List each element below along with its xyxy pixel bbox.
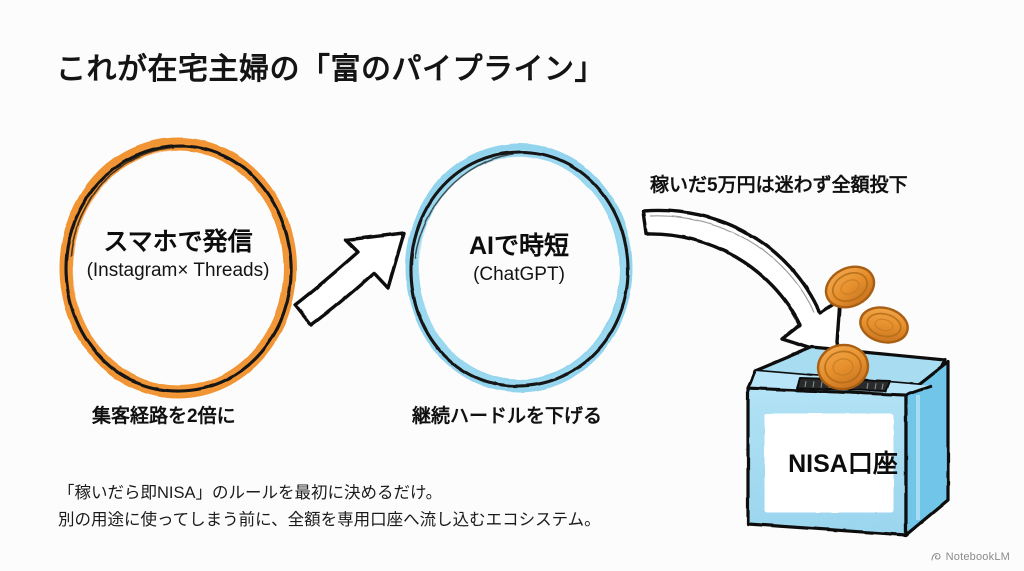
node-circle-ai [411, 150, 628, 386]
flow-label-investment: 稼いだ5万円は迷わず全額投下 [650, 170, 908, 197]
node-circle-smartphone [66, 144, 291, 392]
caption-smartphone: 集客経路を2倍に [92, 401, 236, 428]
watermark-text: NotebookLM [946, 551, 1010, 563]
arrow-smartphone-to-ai [295, 233, 404, 325]
notebooklm-icon [930, 551, 942, 563]
arrow-ai-to-nisa-box [643, 210, 840, 356]
slide-canvas: これが在宅主婦の「富のパイプライン」 [0, 0, 1024, 571]
watermark: NotebookLM [930, 551, 1010, 563]
footnote-line-2: 別の用途に使ってしまう前に、全額を専用口座へ流し込むエコシステム。 [58, 507, 601, 534]
caption-ai: 継続ハードルを下げる [412, 401, 602, 428]
footnote: 「稼いだら即NISA」のルールを最初に決めるだけ。 別の用途に使ってしまう前に、… [58, 480, 601, 533]
coin-icon [857, 303, 912, 348]
footnote-line-1: 「稼いだら即NISA」のルールを最初に決めるだけ。 [58, 480, 601, 507]
nisa-box-label: NISA口座 [757, 444, 929, 480]
